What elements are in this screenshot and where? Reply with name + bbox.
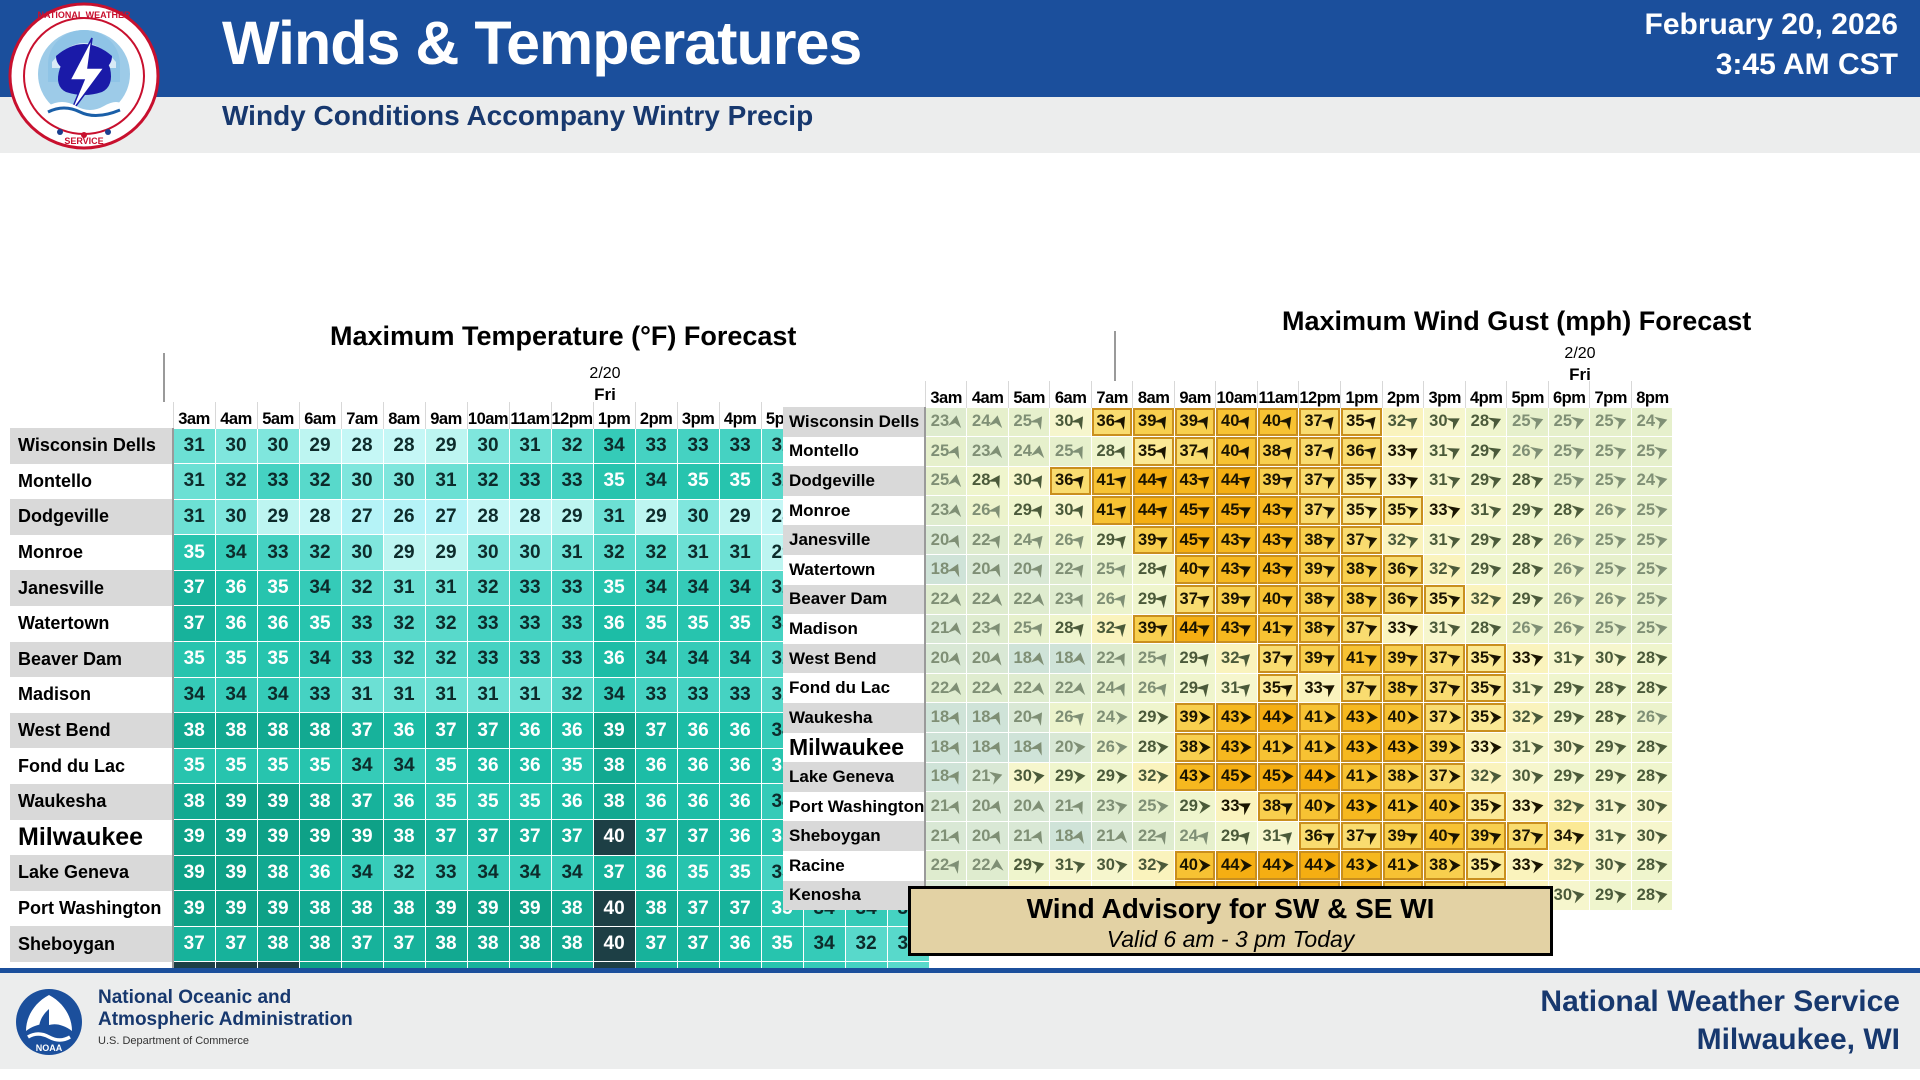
wind-gust-cell: 31⮝ [1424,466,1466,496]
temperature-cell: 32 [341,570,383,606]
page-header: NATIONAL WEATHER SERVICE Winds & Tempera… [0,0,1920,153]
temperature-hour-header-12pm: 12pm [551,402,593,428]
wind-gust-cell: 31⮝ [1590,792,1632,822]
wind-hour-header-10am: 10am [1216,381,1258,407]
wind-gust-cell: 25⮝ [1590,407,1632,437]
wind-gust-cell: 26⮝ [1050,525,1092,555]
temperature-cell: 32 [551,428,593,464]
temperature-cell: 31 [509,677,551,713]
temperature-cell: 39 [299,820,341,856]
wind-gust-cell: 30⮝ [1507,762,1549,792]
temperature-location-milwaukee: Milwaukee [10,820,173,856]
temperature-cell: 33 [551,570,593,606]
temperature-cell: 34 [803,926,845,962]
wind-gust-cell: 37⮝ [1424,644,1466,674]
wind-location-dodgeville: Dodgeville [783,466,925,496]
temperature-cell: 33 [257,535,299,571]
wind-gust-cell: 21⮝ [1008,821,1050,851]
noaa-agency-line2: Atmospheric Administration [98,1009,353,1031]
temperature-cell: 33 [677,677,719,713]
wind-gust-cell: 25⮝ [1631,614,1673,644]
wind-location-montello: Montello [783,437,925,467]
table-row: Fond du Lac22⮝22⮝22⮝22⮝24⮝26⮝29⮝31⮝35⮝33… [783,673,1673,703]
temperature-hour-header-4am: 4am [215,402,257,428]
temperature-cell: 38 [257,713,299,749]
temperature-cell: 38 [467,926,509,962]
wind-gust-cell: 28⮝ [1631,762,1673,792]
wind-hour-header-5am: 5am [1008,381,1050,407]
wind-gust-cell: 26⮝ [1590,585,1632,615]
table-row: Milwaukee18⮝18⮝18⮝20⮝26⮝28⮝38⮝43⮝41⮝41⮝4… [783,733,1673,763]
temperature-cell: 37 [635,713,677,749]
wind-gust-cell: 41⮝ [1341,644,1383,674]
temperature-cell: 35 [677,855,719,891]
wind-hour-header-4pm: 4pm [1465,381,1507,407]
wind-gust-cell: 25⮝ [1050,437,1092,467]
wind-gust-cell: 30⮝ [1548,881,1590,911]
table-row: Lake Geneva18⮝21⮝30⮝29⮝29⮝32⮝43⮝45⮝45⮝44… [783,762,1673,792]
wind-gust-cell: 25⮝ [1631,437,1673,467]
wind-gust-cell: 29⮝ [1133,585,1175,615]
temperature-cell: 29 [425,535,467,571]
temperature-cell: 31 [173,428,215,464]
table-row: Wisconsin Dells23⮝24⮝25⮝30⮝36⮝39⮝39⮝40⮝4… [783,407,1673,437]
wind-gust-cell: 41⮝ [1091,466,1133,496]
wind-location-kenosha: Kenosha [783,881,925,911]
temperature-cell: 40 [593,926,635,962]
wind-gust-cell: 28⮝ [967,466,1009,496]
temperature-cell: 38 [425,926,467,962]
wind-gust-cell: 32⮝ [1091,614,1133,644]
wind-gust-cell: 23⮝ [1050,585,1092,615]
wind-gust-cell: 44⮝ [1133,496,1175,526]
advisory-headline: Wind Advisory for SW & SE WI [911,893,1550,925]
temperature-cell: 32 [635,535,677,571]
temperature-cell: 35 [257,642,299,678]
wind-gust-cell: 41⮝ [1341,762,1383,792]
temperature-cell: 29 [425,428,467,464]
wind-gust-cell: 25⮝ [1631,585,1673,615]
temperature-cell: 32 [551,677,593,713]
wind-gust-cell: 40⮝ [1424,792,1466,822]
wind-gust-cell: 28⮝ [1631,673,1673,703]
temperature-cell: 37 [551,820,593,856]
wind-gust-cell: 32⮝ [1548,851,1590,881]
wind-location-watertown: Watertown [783,555,925,585]
wind-gust-cell: 37⮝ [1341,614,1383,644]
wind-gust-cell: 39⮝ [1465,821,1507,851]
temperature-cell: 36 [635,748,677,784]
temperature-cell: 36 [551,784,593,820]
wind-gust-cell: 30⮝ [1424,407,1466,437]
table-row: Watertown18⮝20⮝20⮝22⮝25⮝28⮝40⮝43⮝43⮝39⮝3… [783,555,1673,585]
wind-gust-cell: 25⮝ [925,437,967,467]
wind-gust-cell: 44⮝ [1257,851,1299,881]
wind-gust-cell: 41⮝ [1091,496,1133,526]
table-row: Janesville20⮝22⮝24⮝26⮝29⮝39⮝45⮝43⮝43⮝38⮝… [783,525,1673,555]
wind-gust-cell: 38⮝ [1174,733,1216,763]
wind-gust-cell: 35⮝ [1341,466,1383,496]
wind-gust-cell: 29⮝ [1465,437,1507,467]
temperature-cell: 34 [635,642,677,678]
wind-gust-cell: 26⮝ [1507,437,1549,467]
temperature-hour-header-1pm: 1pm [593,402,635,428]
temperature-cell: 35 [257,748,299,784]
temperature-cell: 35 [635,606,677,642]
wind-gust-cell: 39⮝ [1299,644,1341,674]
wind-gust-cell: 29⮝ [1174,792,1216,822]
temperature-cell: 31 [383,570,425,606]
temperature-cell: 33 [509,606,551,642]
temperature-cell: 30 [341,535,383,571]
wind-gust-cell: 39⮝ [1382,821,1424,851]
wind-gust-cell: 37⮝ [1174,437,1216,467]
wind-gust-cell: 36⮝ [1050,466,1092,496]
wind-gust-cell: 32⮝ [1133,851,1175,881]
wind-gust-cell: 31⮝ [1424,614,1466,644]
wind-gust-cell: 25⮝ [1590,466,1632,496]
temperature-cell: 36 [383,713,425,749]
temperature-cell: 38 [635,891,677,927]
temperature-cell: 35 [719,464,761,500]
wind-gust-cell: 20⮝ [1008,703,1050,733]
noaa-agency-line1: National Oceanic and [98,987,353,1009]
wind-gust-cell: 39⮝ [1133,614,1175,644]
wind-location-lake-geneva: Lake Geneva [783,762,925,792]
temperature-cell: 30 [467,428,509,464]
temperature-location-janesville: Janesville [10,570,173,606]
wind-gust-cell: 26⮝ [1631,703,1673,733]
temperature-cell: 36 [215,606,257,642]
temperature-cell: 38 [173,713,215,749]
temperature-cell: 35 [173,642,215,678]
temperature-cell: 28 [299,499,341,535]
wind-gust-cell: 28⮝ [1133,733,1175,763]
wind-gust-cell: 24⮝ [1631,466,1673,496]
temperature-cell: 35 [425,784,467,820]
wind-gust-cell: 29⮝ [1050,762,1092,792]
wind-gust-cell: 30⮝ [1008,466,1050,496]
wind-gust-cell: 38⮝ [1299,614,1341,644]
wind-gust-cell: 31⮝ [1424,525,1466,555]
wind-gust-cell: 22⮝ [925,585,967,615]
wind-gust-cell: 31⮝ [1257,821,1299,851]
wind-gust-cell: 30⮝ [1050,496,1092,526]
wind-gust-cell: 18⮝ [925,555,967,585]
temperature-cell: 34 [593,677,635,713]
wind-gust-cell: 28⮝ [1465,614,1507,644]
wind-gust-cell: 25⮝ [1590,525,1632,555]
wind-gust-cell: 35⮝ [1382,496,1424,526]
wind-gust-cell: 36⮝ [1341,437,1383,467]
wind-gust-cell: 33⮝ [1216,792,1258,822]
wind-gust-cell: 20⮝ [1008,792,1050,822]
wind-gust-cell: 39⮝ [1382,644,1424,674]
wind-gust-cell: 35⮝ [1465,644,1507,674]
temperature-location-watertown: Watertown [10,606,173,642]
temperature-cell: 38 [341,891,383,927]
wind-gust-cell: 21⮝ [925,792,967,822]
wind-gust-cell: 29⮝ [1091,762,1133,792]
wind-gust-cell: 37⮝ [1299,496,1341,526]
temperature-cell: 36 [719,820,761,856]
temperature-hour-header-11am: 11am [509,402,551,428]
temperature-cell: 39 [257,891,299,927]
temperature-cell: 36 [677,713,719,749]
wind-gust-cell: 25⮝ [1631,555,1673,585]
wind-gust-cell: 39⮝ [1133,407,1175,437]
wind-gust-cell: 32⮝ [1465,762,1507,792]
wind-gust-cell: 28⮝ [1631,851,1673,881]
wind-gust-cell: 30⮝ [1590,851,1632,881]
temperature-cell: 35 [215,642,257,678]
temperature-cell: 35 [173,535,215,571]
wind-location-beaver-dam: Beaver Dam [783,585,925,615]
main-stage: Maximum Temperature (°F) Forecast 2/20 F… [0,153,1920,983]
temperature-cell: 35 [467,784,509,820]
wind-gust-cell: 28⮝ [1631,881,1673,911]
wind-gust-cell: 26⮝ [1507,614,1549,644]
wind-gust-cell: 29⮝ [1465,555,1507,585]
temperature-cell: 37 [173,926,215,962]
temperature-cell: 30 [341,464,383,500]
wind-gust-cell: 25⮝ [1631,525,1673,555]
temperature-cell: 33 [341,606,383,642]
temperature-cell: 37 [677,820,719,856]
temperature-cell: 34 [551,855,593,891]
wind-gust-cell: 20⮝ [1050,733,1092,763]
wind-gust-cell: 32⮝ [1216,644,1258,674]
temperature-cell: 33 [509,642,551,678]
wind-gust-cell: 38⮝ [1424,851,1466,881]
wind-gust-cell: 26⮝ [1050,703,1092,733]
wind-gust-cell: 24⮝ [1091,703,1133,733]
temperature-cell: 37 [467,820,509,856]
temperature-cell: 39 [509,891,551,927]
wind-gust-cell: 30⮝ [1631,792,1673,822]
wind-gust-cell: 25⮝ [1008,407,1050,437]
wind-gust-cell: 26⮝ [1548,614,1590,644]
wind-gust-cell: 23⮝ [967,614,1009,644]
wind-gust-cell: 36⮝ [1382,555,1424,585]
temperature-cell: 32 [299,535,341,571]
temperature-cell: 33 [551,642,593,678]
wind-gust-cell: 29⮝ [1465,525,1507,555]
wind-gust-cell: 25⮝ [1133,792,1175,822]
wind-gust-cell: 31⮝ [1507,673,1549,703]
temperature-cell: 34 [215,677,257,713]
svg-text:NOAA: NOAA [36,1043,63,1053]
wind-day-label: 2/20 Fri [1545,345,1615,385]
wind-gust-cell: 35⮝ [1465,792,1507,822]
temperature-location-wisconsin-dells: Wisconsin Dells [10,428,173,464]
wind-gust-cell: 43⮝ [1174,762,1216,792]
temperature-cell: 33 [467,606,509,642]
temperature-cell: 34 [341,855,383,891]
wind-gust-cell: 24⮝ [1008,437,1050,467]
temperature-location-sheboygan: Sheboygan [10,926,173,962]
temperature-cell: 37 [341,784,383,820]
temperature-day-label: 2/20 Fri [570,365,640,405]
temperature-hour-header-8am: 8am [383,402,425,428]
wind-gust-cell: 43⮝ [1216,703,1258,733]
temperature-cell: 37 [341,713,383,749]
wind-location-fond-du-lac: Fond du Lac [783,673,925,703]
wind-chart-title: Maximum Wind Gust (mph) Forecast [1282,306,1751,337]
wind-header-row: 3am4am5am6am7am8am9am10am11am12pm1pm2pm3… [783,381,1673,407]
wind-gust-cell: 29⮝ [1465,466,1507,496]
temperature-cell: 31 [551,535,593,571]
wind-gust-cell: 41⮝ [1299,703,1341,733]
temperature-cell: 29 [635,499,677,535]
temperature-cell: 35 [761,926,803,962]
wind-gust-cell: 22⮝ [1133,821,1175,851]
temperature-cell: 39 [173,820,215,856]
wind-gust-cell: 43⮝ [1257,555,1299,585]
temperature-cell: 39 [257,784,299,820]
wind-gust-cell: 26⮝ [1548,585,1590,615]
wind-hour-header-8am: 8am [1133,381,1175,407]
wind-hour-header-8pm: 8pm [1631,381,1673,407]
temperature-cell: 31 [719,535,761,571]
temperature-cell: 26 [383,499,425,535]
page-footer: NOAA National Oceanic and Atmospheric Ad… [0,968,1920,1069]
wind-location-west-bend: West Bend [783,644,925,674]
temperature-cell: 37 [677,891,719,927]
wind-gust-cell: 43⮝ [1382,733,1424,763]
wind-gust-cell: 26⮝ [1548,525,1590,555]
temperature-cell: 36 [593,606,635,642]
wind-gust-cell: 37⮝ [1341,821,1383,851]
wind-gust-cell: 18⮝ [1050,821,1092,851]
wind-gust-cell: 21⮝ [925,821,967,851]
table-row: Madison21⮝23⮝25⮝28⮝32⮝39⮝44⮝43⮝41⮝38⮝37⮝… [783,614,1673,644]
temperature-hour-header-5am: 5am [257,402,299,428]
wind-gust-cell: 45⮝ [1257,762,1299,792]
temperature-cell: 39 [173,855,215,891]
wind-gust-cell: 40⮝ [1299,792,1341,822]
temperature-cell: 31 [425,677,467,713]
wind-gust-cell: 22⮝ [1050,673,1092,703]
temperature-date-text: 2/20 [589,365,620,382]
wind-gust-cell: 40⮝ [1174,851,1216,881]
temperature-cell: 34 [173,677,215,713]
table-row: Monroe23⮝26⮝29⮝30⮝41⮝44⮝45⮝45⮝43⮝37⮝35⮝3… [783,496,1673,526]
wind-gust-cell: 29⮝ [1174,673,1216,703]
wind-gust-cell: 20⮝ [967,644,1009,674]
wind-gust-cell: 30⮝ [1091,851,1133,881]
temperature-location-montello: Montello [10,464,173,500]
wind-gust-cell: 29⮝ [1548,703,1590,733]
wind-gust-cell: 18⮝ [967,733,1009,763]
temperature-hour-header-3pm: 3pm [677,402,719,428]
wind-gust-cell: 40⮝ [1424,821,1466,851]
temperature-cell: 30 [677,499,719,535]
wind-gust-cell: 29⮝ [1590,733,1632,763]
temperature-cell: 36 [467,748,509,784]
wind-location-sheboygan: Sheboygan [783,821,925,851]
office-name: National Weather Service [1540,985,1900,1019]
wind-hour-header-7pm: 7pm [1590,381,1632,407]
wind-hour-header-3pm: 3pm [1424,381,1466,407]
temperature-cell: 36 [719,926,761,962]
wind-hour-header-9am: 9am [1174,381,1216,407]
wind-hour-header-2pm: 2pm [1382,381,1424,407]
temperature-cell: 31 [173,464,215,500]
wind-gust-cell: 36⮝ [1382,585,1424,615]
wind-gust-cell: 43⮝ [1216,614,1258,644]
temperature-location-waukesha: Waukesha [10,784,173,820]
wind-gust-cell: 29⮝ [1133,703,1175,733]
temperature-cell: 36 [719,784,761,820]
wind-gust-cell: 30⮝ [1548,733,1590,763]
temperature-cell: 29 [383,535,425,571]
temperature-cell: 38 [551,926,593,962]
wind-gust-cell: 37⮝ [1341,525,1383,555]
temperature-cell: 34 [257,677,299,713]
wind-gust-cell: 38⮝ [1341,585,1383,615]
temperature-cell: 31 [383,677,425,713]
wind-gust-cell: 32⮝ [1133,762,1175,792]
wind-gust-cell: 28⮝ [1507,555,1549,585]
wind-gust-cell: 33⮝ [1507,792,1549,822]
wind-gust-cell: 28⮝ [1507,466,1549,496]
temperature-cell: 33 [551,464,593,500]
temperature-cell: 33 [635,428,677,464]
wind-gust-cell: 37⮝ [1424,673,1466,703]
temperature-chart-title: Maximum Temperature (°F) Forecast [330,321,796,352]
wind-gust-cell: 43⮝ [1216,525,1258,555]
wind-gust-cell: 40⮝ [1174,555,1216,585]
wind-gust-cell: 20⮝ [925,525,967,555]
wind-gust-cell: 40⮝ [1216,407,1258,437]
wind-gust-cell: 22⮝ [967,673,1009,703]
wind-gust-cell: 23⮝ [967,437,1009,467]
temperature-cell: 32 [467,570,509,606]
table-row: Dodgeville25⮝28⮝30⮝36⮝41⮝44⮝43⮝44⮝39⮝37⮝… [783,466,1673,496]
temperature-cell: 35 [593,570,635,606]
wind-gust-cell: 24⮝ [1091,673,1133,703]
wind-hour-header-11am: 11am [1257,381,1299,407]
wind-gust-cell: 45⮝ [1174,496,1216,526]
temperature-hour-header-10am: 10am [467,402,509,428]
temperature-cell: 37 [341,926,383,962]
temperature-cell: 27 [425,499,467,535]
wind-gust-cell: 25⮝ [1590,614,1632,644]
temperature-cell: 29 [719,499,761,535]
temperature-cell: 36 [383,784,425,820]
wind-gust-cell: 26⮝ [1590,496,1632,526]
wind-gust-cell: 18⮝ [1050,644,1092,674]
temperature-cell: 36 [299,855,341,891]
wind-gust-cell: 24⮝ [1008,525,1050,555]
temperature-cell: 33 [341,642,383,678]
wind-gust-cell: 28⮝ [1631,644,1673,674]
wind-gust-cell: 24⮝ [1631,407,1673,437]
wind-hour-header-7am: 7am [1091,381,1133,407]
temperature-cell: 34 [299,642,341,678]
temperature-cell: 33 [551,606,593,642]
wind-hour-header-6am: 6am [1050,381,1092,407]
wind-gust-cell: 40⮝ [1257,407,1299,437]
wind-gust-cell: 22⮝ [1091,644,1133,674]
temperature-cell: 37 [635,820,677,856]
temperature-hour-header-4pm: 4pm [719,402,761,428]
temperature-cell: 33 [509,570,551,606]
temperature-cell: 31 [341,677,383,713]
temperature-cell: 38 [215,713,257,749]
temperature-cell: 32 [383,855,425,891]
